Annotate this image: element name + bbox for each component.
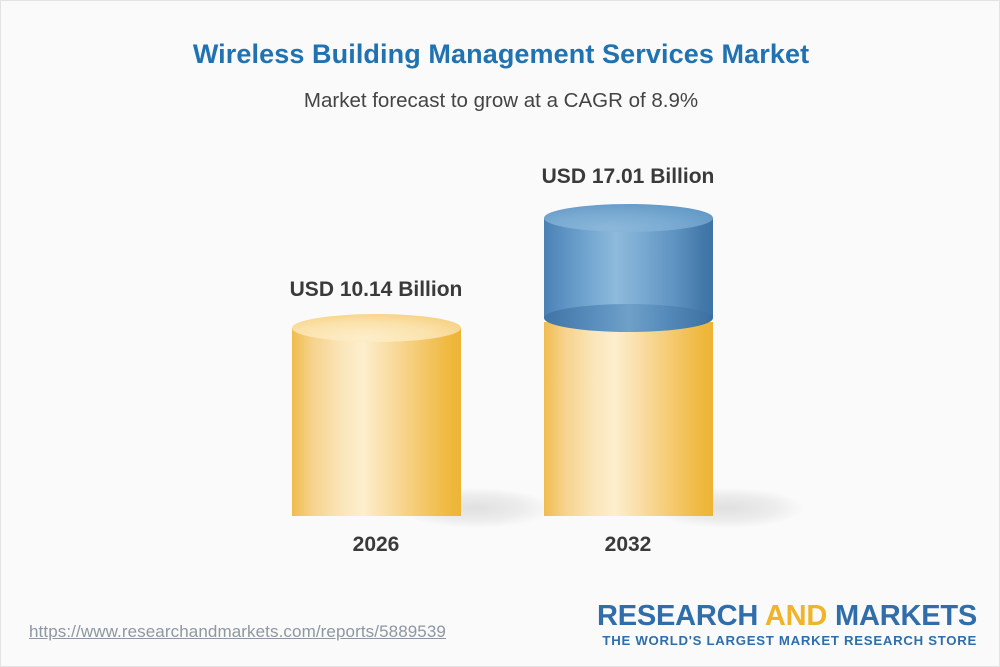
- bar-top-ellipse-2026: [292, 314, 461, 342]
- bar-cylinder-2026: [292, 314, 461, 516]
- logo-text-research: RESEARCH: [597, 600, 765, 632]
- bar-top-ellipse-2032: [544, 204, 713, 232]
- chart-plot-area: USD 10.14 Billion 2026 USD 17.01 Billion: [1, 1, 1000, 601]
- logo-tagline: THE WORLD'S LARGEST MARKET RESEARCH STOR…: [597, 633, 977, 649]
- bar-base-segment-2032: [544, 322, 713, 516]
- market-forecast-infographic: Wireless Building Management Services Ma…: [0, 0, 1000, 667]
- research-and-markets-logo[interactable]: RESEARCH AND MARKETS THE WORLD'S LARGEST…: [597, 601, 977, 649]
- bar-growth-segment-2032: [544, 218, 713, 318]
- source-url-link[interactable]: https://www.researchandmarkets.com/repor…: [29, 622, 446, 642]
- category-label-2026: 2026: [256, 533, 496, 557]
- value-label-2032: USD 17.01 Billion: [468, 165, 788, 189]
- logo-wordmark: RESEARCH AND MARKETS: [597, 601, 977, 631]
- value-label-2026: USD 10.14 Billion: [216, 278, 536, 302]
- bar-body-2026: [292, 328, 461, 516]
- logo-text-and: AND: [765, 600, 827, 632]
- category-label-2032: 2032: [508, 533, 748, 557]
- logo-text-markets: MARKETS: [827, 600, 977, 632]
- bar-segment-divider-ellipse-2032: [544, 304, 713, 332]
- bar-cylinder-2032: [544, 204, 713, 516]
